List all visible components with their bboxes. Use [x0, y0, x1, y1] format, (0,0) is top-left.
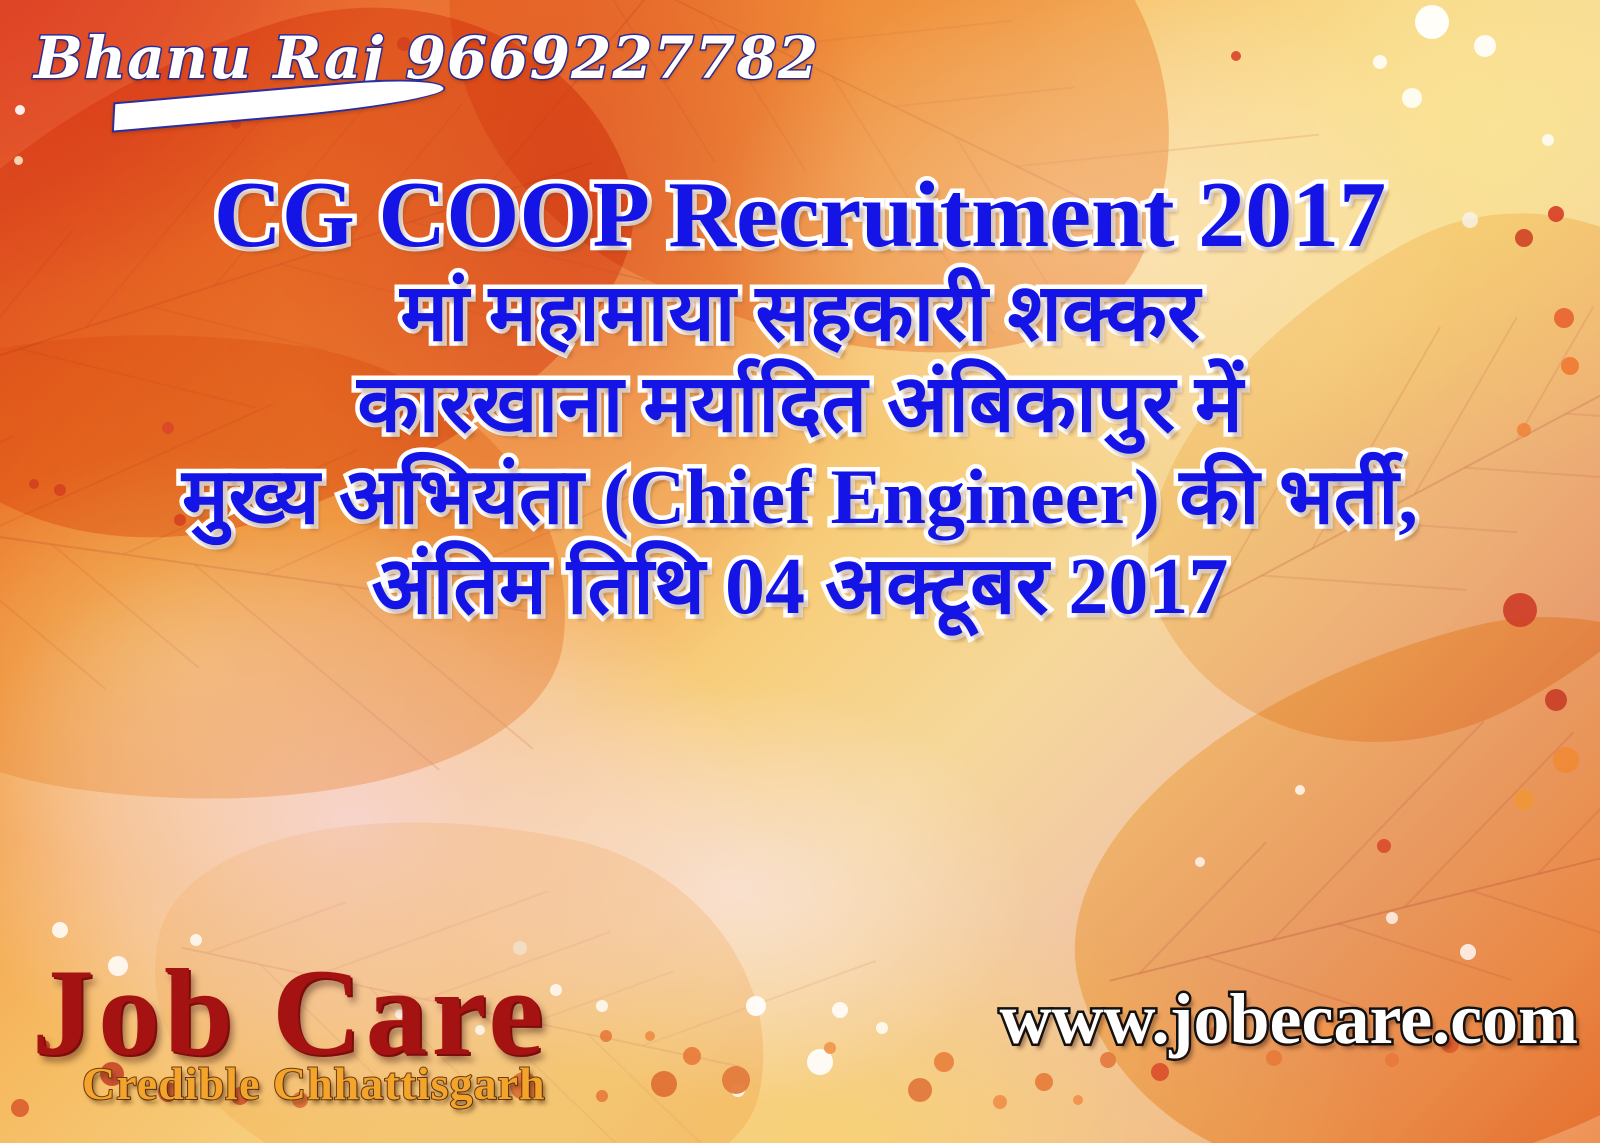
bokeh-dot	[1373, 55, 1387, 69]
hindi-line-2: कारखाना मर्यादित अंबिकापुर में	[0, 365, 1600, 447]
bokeh-dot	[651, 1071, 677, 1097]
website-url[interactable]: www.jobecare.com	[1000, 978, 1579, 1061]
leaf-vein	[1537, 742, 1600, 874]
leaf-vein	[1338, 923, 1512, 981]
hindi-line-4: अंतिम तिथि 04 अक्टूबर 2017	[0, 547, 1600, 629]
bokeh-dot	[824, 1042, 836, 1054]
bokeh-dot	[908, 1078, 932, 1102]
bokeh-dot	[1460, 944, 1476, 960]
bokeh-dot	[1553, 747, 1579, 773]
bokeh-dot	[1514, 790, 1534, 810]
bokeh-dot	[993, 1095, 1007, 1109]
leaf-vein	[1017, 133, 1319, 166]
page-title: CG COOP Recruitment 2017	[0, 168, 1600, 264]
bokeh-dot	[1035, 1073, 1053, 1091]
bokeh-dot	[1545, 689, 1567, 711]
headline-block: CG COOP Recruitment 2017 मां महामाया सहक…	[0, 168, 1600, 628]
recruitment-poster: Bhanu Raj 9669227782 CG COOP Recruitment…	[0, 0, 1600, 1143]
bokeh-dot	[1073, 1095, 1083, 1105]
leaf-vein	[642, 960, 876, 1046]
bokeh-dot	[1474, 35, 1496, 57]
bokeh-dot	[746, 996, 766, 1016]
bokeh-dot	[1151, 1063, 1169, 1081]
bokeh-dot	[1231, 51, 1241, 61]
bokeh-dot	[14, 156, 23, 165]
bokeh-dot	[645, 1031, 655, 1041]
leaf-vein	[1471, 889, 1600, 984]
bokeh-dot	[807, 1049, 833, 1075]
hindi-line-1: मां महामाया सहकारी शक्कर	[0, 274, 1600, 356]
bokeh-dot	[832, 1002, 848, 1018]
logo-tagline: Credible Chhattisgarh	[82, 1057, 546, 1110]
bokeh-dot	[15, 105, 25, 115]
bokeh-dot	[1402, 88, 1422, 108]
hindi-line-3: मुख्य अभियंता (Chief Engineer) की भर्ती,	[0, 457, 1600, 537]
job-care-logo: Job Care Credible Chhattisgarh	[22, 945, 622, 1135]
leaf-vein	[1139, 841, 1267, 973]
bokeh-dot	[1415, 5, 1449, 39]
bokeh-dot	[722, 1066, 750, 1094]
bokeh-dot	[1295, 785, 1305, 795]
bokeh-dot	[876, 1022, 888, 1034]
bokeh-dot	[52, 922, 68, 938]
bokeh-dot	[683, 1047, 701, 1065]
bokeh-dot	[1195, 857, 1205, 867]
leaf-vein	[1271, 721, 1483, 941]
bokeh-dot	[731, 1083, 745, 1097]
bokeh-dot	[1377, 839, 1391, 853]
bokeh-dot	[934, 1052, 954, 1072]
leaf-vein	[894, 86, 1076, 107]
bokeh-dot	[1386, 912, 1398, 924]
leaf-vein	[1404, 731, 1574, 907]
bokeh-dot	[1542, 134, 1554, 146]
